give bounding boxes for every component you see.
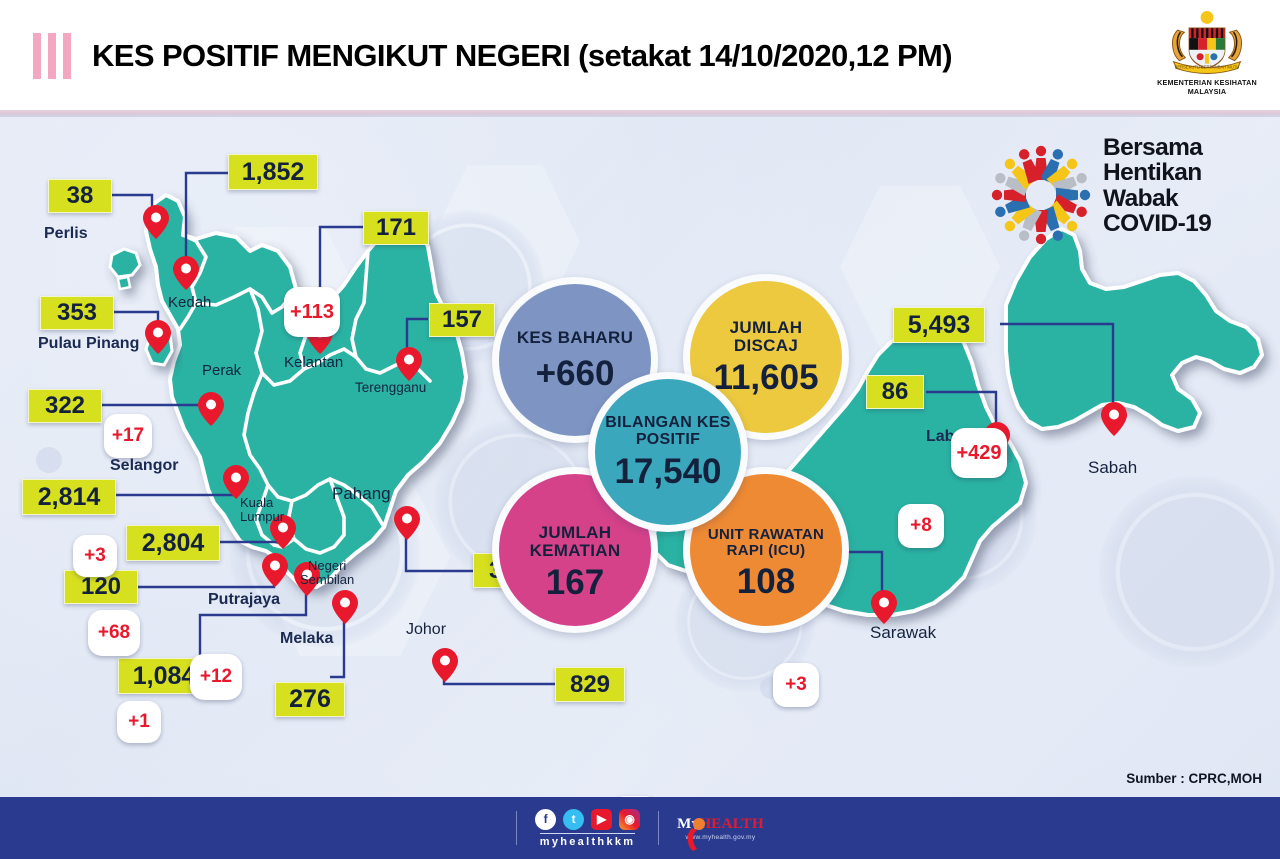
label-perlis: Perlis bbox=[44, 225, 88, 243]
facebook-icon[interactable]: f bbox=[535, 809, 556, 830]
chip-melaka: 276 bbox=[275, 682, 345, 717]
map-label-pahang: Pahang bbox=[332, 484, 391, 504]
chip-kuala-lumpur: 2,804 bbox=[126, 525, 220, 561]
label-selangor: Selangor bbox=[110, 457, 178, 475]
chip-kelantan: 171 bbox=[363, 211, 429, 245]
header-bars-icon bbox=[33, 33, 79, 79]
campaign-logo: Bersama Hentikan Wabak COVID-19 bbox=[985, 137, 1275, 252]
delta-labuan: +8 bbox=[898, 504, 944, 548]
header-divider bbox=[0, 110, 1280, 117]
source-note: Sumber : CPRC,MOH bbox=[1126, 771, 1262, 786]
chip-terengganu: 157 bbox=[429, 303, 495, 337]
map-label-kuala-lumpur-l1: Kuala bbox=[240, 495, 273, 510]
ministry-logo: BERSEKUTU BERTAMBAH MUTU KEMENTERIAN KES… bbox=[1148, 8, 1266, 106]
map-label-negeri-sembilan-l1: Negeri bbox=[308, 558, 346, 573]
delta-kuala-lumpur: +12 bbox=[190, 654, 242, 700]
stat-jumlah-discaj-value: 11,605 bbox=[713, 360, 818, 395]
stat-bilangan-kes-positif-value: 17,540 bbox=[614, 454, 721, 489]
infographic-page: KES POSITIF MENGIKUT NEGERI (setakat 14/… bbox=[0, 0, 1280, 859]
map-label-johor: Johor bbox=[406, 621, 446, 639]
chip-perlis: 38 bbox=[48, 179, 112, 213]
chip-perak: 322 bbox=[28, 389, 102, 423]
chip-sabah: 5,493 bbox=[893, 307, 985, 343]
delta-kedah: +113 bbox=[284, 287, 340, 337]
sabah-shape bbox=[1006, 229, 1262, 431]
pin-pulau-pinang bbox=[145, 320, 171, 354]
social-block: f t ▶ ◉ myhealthkkm bbox=[535, 809, 640, 848]
campaign-line1: Bersama bbox=[1103, 135, 1211, 160]
page-header: KES POSITIF MENGIKUT NEGERI (setakat 14/… bbox=[0, 0, 1280, 112]
delta-sabah: +429 bbox=[951, 428, 1007, 478]
pin-putrajaya bbox=[262, 553, 288, 587]
stat-jumlah-kematian-label-l1: JUMLAH bbox=[539, 524, 612, 542]
stat-unit-rawatan-rapi-label-l2: RAPI (ICU) bbox=[727, 543, 806, 559]
chip-kedah: 1,852 bbox=[228, 154, 318, 190]
social-handle: myhealthkkm bbox=[540, 833, 636, 848]
delta-putrajaya: +1 bbox=[117, 701, 161, 743]
chip-pulau-pinang: 353 bbox=[40, 296, 114, 330]
delta-perak: +3 bbox=[73, 535, 117, 577]
stat-jumlah-discaj-label-l1: JUMLAH bbox=[730, 319, 803, 337]
map-label-terengganu: Terengganu bbox=[355, 380, 426, 395]
label-putrajaya: Putrajaya bbox=[208, 591, 280, 609]
pin-sarawak bbox=[871, 590, 897, 624]
stat-kes-baharu-label: KES BAHARU bbox=[517, 329, 633, 347]
stat-jumlah-kematian-label-l2: KEMATIAN bbox=[530, 542, 621, 560]
stat-unit-rawatan-rapi-label-l1: UNIT RAWATAN bbox=[708, 527, 824, 543]
delta-selangor: +68 bbox=[88, 610, 140, 656]
svg-text:BERSEKUTU BERTAMBAH MUTU: BERSEKUTU BERTAMBAH MUTU bbox=[1175, 65, 1240, 70]
stat-bilangan-kes-positif: BILANGAN KES POSITIF 17,540 bbox=[588, 372, 748, 532]
campaign-text: Bersama Hentikan Wabak COVID-19 bbox=[1103, 135, 1211, 237]
myhealth-health: HEALTH bbox=[699, 816, 764, 832]
label-pulau-pinang: Pulau Pinang bbox=[38, 335, 139, 353]
page-footer: f t ▶ ◉ myhealthkkm MyHEALTH www.myhealt… bbox=[0, 797, 1280, 859]
map-label-kedah: Kedah bbox=[168, 294, 211, 311]
ministry-name-line1: KEMENTERIAN KESIHATAN bbox=[1148, 78, 1266, 87]
footer-divider-right bbox=[658, 811, 659, 845]
pin-sabah bbox=[1101, 402, 1127, 436]
pin-perak bbox=[198, 392, 224, 426]
myhealth-logo[interactable]: MyHEALTH www.myhealth.gov.my bbox=[677, 816, 764, 841]
map-label-kuala-lumpur-l2: Lumpur bbox=[240, 509, 284, 524]
stat-jumlah-kematian-value: 167 bbox=[546, 565, 604, 600]
pin-melaka bbox=[332, 590, 358, 624]
campaign-line2: Hentikan bbox=[1103, 160, 1211, 185]
delta-pulau-pinang: +17 bbox=[104, 414, 152, 458]
langkawi-islands bbox=[110, 249, 140, 289]
pin-perlis bbox=[143, 205, 169, 239]
campaign-line3: Wabak bbox=[1103, 186, 1211, 211]
stat-bilangan-kes-positif-label-l1: BILANGAN KES bbox=[605, 415, 730, 432]
myhealth-figure-icon bbox=[682, 818, 708, 852]
pin-terengganu bbox=[396, 347, 422, 381]
map-label-kelantan: Kelantan bbox=[284, 354, 343, 371]
page-title: KES POSITIF MENGIKUT NEGERI (setakat 14/… bbox=[92, 38, 952, 74]
map-label-sabah: Sabah bbox=[1088, 458, 1137, 478]
youtube-icon[interactable]: ▶ bbox=[591, 809, 612, 830]
pin-selangor bbox=[223, 465, 249, 499]
chip-selangor: 2,814 bbox=[22, 479, 116, 515]
chip-labuan: 86 bbox=[866, 375, 924, 409]
pin-johor bbox=[432, 648, 458, 682]
map-label-perak: Perak bbox=[202, 362, 241, 379]
stat-kes-baharu-value: +660 bbox=[536, 356, 615, 391]
campaign-line4: COVID-19 bbox=[1103, 211, 1211, 236]
delta-sarawak: +3 bbox=[773, 663, 819, 707]
ministry-name-line2: MALAYSIA bbox=[1148, 87, 1266, 96]
malaysia-coat-of-arms-icon: BERSEKUTU BERTAMBAH MUTU bbox=[1148, 8, 1266, 78]
map-label-negeri-sembilan-l2: Sembilan bbox=[300, 572, 354, 587]
pin-kedah bbox=[173, 256, 199, 290]
people-circle-icon bbox=[985, 139, 1097, 251]
label-melaka: Melaka bbox=[280, 630, 333, 648]
map-canvas: Kedah Perak Kelantan Terengganu Pahang J… bbox=[0, 117, 1280, 797]
chip-johor: 829 bbox=[555, 667, 625, 702]
footer-divider-left bbox=[516, 811, 517, 845]
twitter-icon[interactable]: t bbox=[563, 809, 584, 830]
stat-unit-rawatan-rapi-value: 108 bbox=[737, 564, 795, 599]
stat-jumlah-discaj-label-l2: DISCAJ bbox=[734, 337, 798, 355]
pin-pahang bbox=[394, 506, 420, 540]
map-label-sarawak: Sarawak bbox=[870, 623, 936, 643]
stat-bilangan-kes-positif-label-l2: POSITIF bbox=[636, 432, 700, 449]
instagram-icon[interactable]: ◉ bbox=[619, 809, 640, 830]
